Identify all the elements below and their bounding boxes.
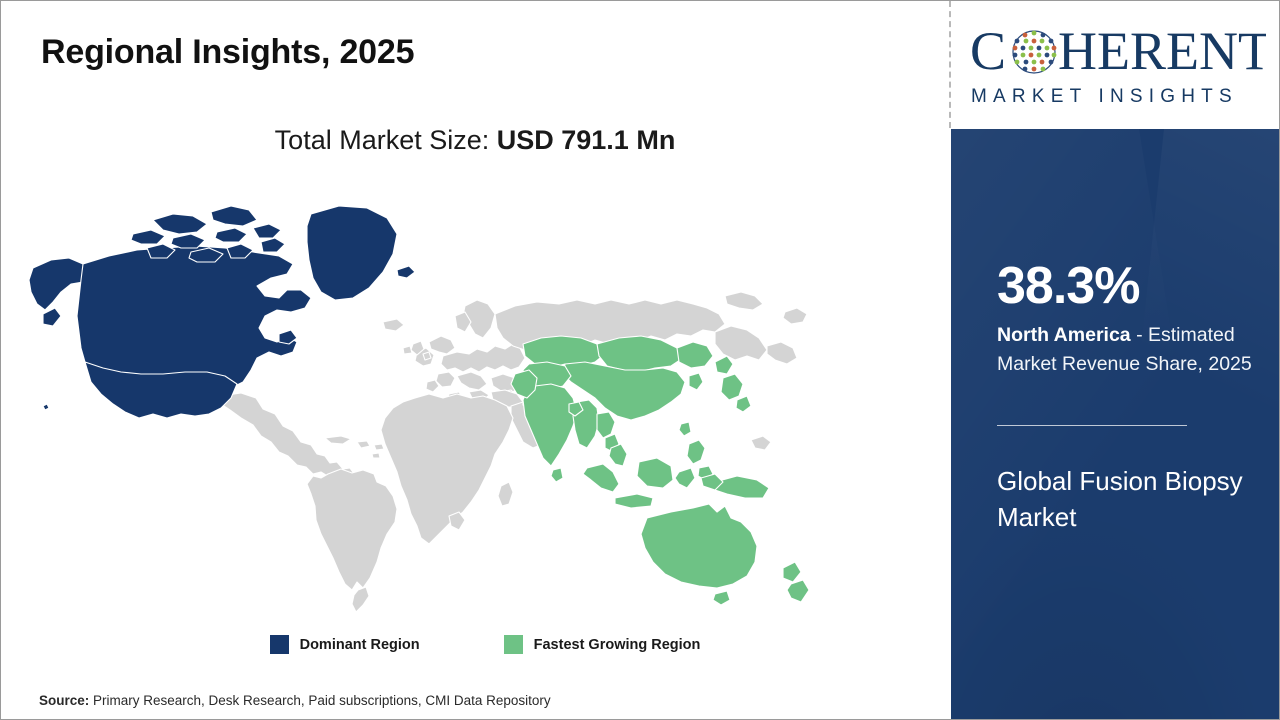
map-dominant-region — [29, 206, 415, 418]
legend-item-dominant-region: Dominant Region — [270, 635, 420, 654]
left-content-pane: Regional Insights, 2025 Total Market Siz… — [1, 1, 949, 720]
stat-caption: North America - Estimated Market Revenue… — [997, 321, 1259, 379]
globe-dots-icon — [1013, 30, 1057, 72]
legend-item-fastest-growing-region: Fastest Growing Region — [504, 635, 701, 654]
world-map — [25, 186, 825, 618]
legend-label-fastest-growing: Fastest Growing Region — [534, 637, 701, 653]
svg-text:MARKET INSIGHTS: MARKET INSIGHTS — [971, 86, 1238, 107]
legend-swatch-dominant-icon — [270, 635, 289, 654]
brand-logo: C — [951, 1, 1280, 128]
page-title: Regional Insights, 2025 — [41, 33, 414, 72]
stat-percent-value: 38.3% — [997, 260, 1139, 312]
market-size-label: Total Market Size: — [275, 125, 497, 155]
stats-panel: 38.3% North America - Estimated Market R… — [951, 129, 1280, 720]
map-fastest-growing-region — [511, 336, 809, 605]
stat-region-name: North America — [997, 324, 1131, 346]
source-label: Source: — [39, 693, 89, 708]
stat-divider-rule — [997, 425, 1187, 426]
source-note: Source: Primary Research, Desk Research,… — [39, 693, 551, 708]
svg-text:C: C — [970, 21, 1006, 81]
world-map-svg — [25, 186, 825, 618]
legend-swatch-fastest-growing-icon — [504, 635, 523, 654]
svg-text:HERENT: HERENT — [1058, 21, 1266, 81]
market-size-value: USD 791.1 Mn — [497, 125, 676, 155]
infographic-slide: Regional Insights, 2025 Total Market Siz… — [0, 0, 1280, 720]
source-text: Primary Research, Desk Research, Paid su… — [89, 693, 550, 708]
logo-svg: C — [966, 19, 1266, 111]
map-legend: Dominant Region Fastest Growing Region — [1, 635, 949, 654]
total-market-size: Total Market Size: USD 791.1 Mn — [1, 125, 949, 156]
legend-label-dominant: Dominant Region — [300, 637, 420, 653]
market-name: Global Fusion Biopsy Market — [997, 464, 1265, 536]
